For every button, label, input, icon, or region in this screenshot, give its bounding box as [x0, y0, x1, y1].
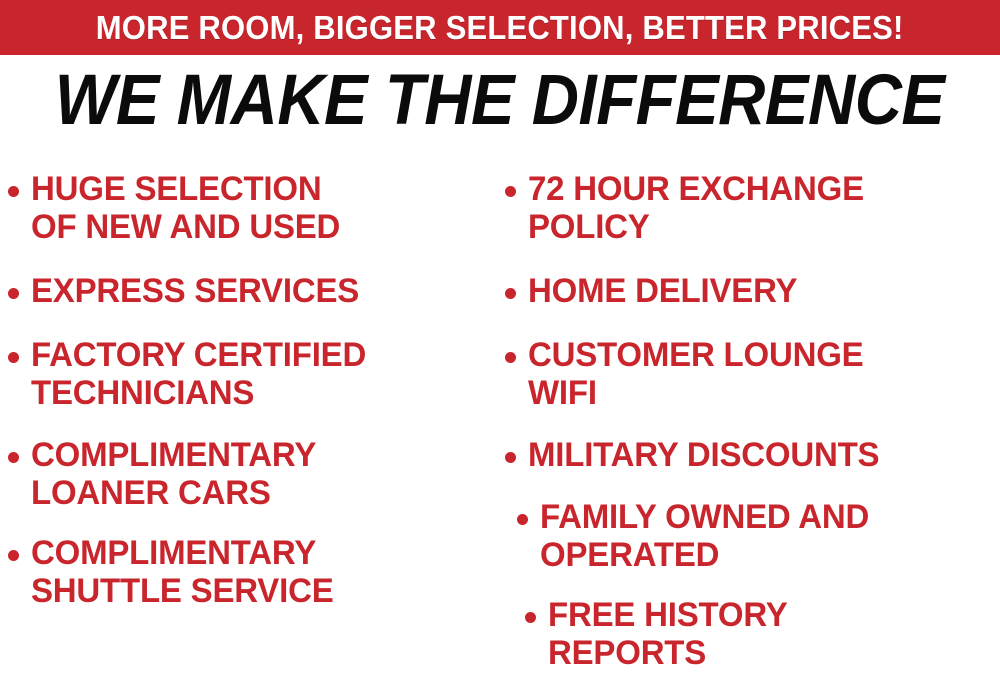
list-item: 72 HOUR EXCHANGE POLICY [505, 170, 1000, 246]
bullet-dot-icon [505, 186, 516, 197]
bullet-dot-icon [525, 612, 536, 623]
list-item-label: HOME DELIVERY [528, 272, 797, 310]
bullet-dot-icon [8, 550, 19, 561]
list-item-label: FAMILY OWNED AND OPERATED [540, 498, 869, 574]
promo-banner-text: MORE ROOM, BIGGER SELECTION, BETTER PRIC… [96, 11, 904, 44]
headline-container: WE MAKE THE DIFFERENCE [0, 60, 1000, 140]
list-item: MILITARY DISCOUNTS [505, 436, 1000, 474]
bullet-dot-icon [8, 452, 19, 463]
bullet-dot-icon [517, 514, 528, 525]
benefits-column-right: 72 HOUR EXCHANGE POLICY HOME DELIVERY CU… [505, 150, 1000, 694]
list-item-label: EXPRESS SERVICES [31, 272, 359, 310]
bullet-dot-icon [505, 452, 516, 463]
list-item-label: FREE HISTORY REPORTS [548, 596, 788, 672]
page-title: WE MAKE THE DIFFERENCE [55, 65, 945, 136]
list-item: FAMILY OWNED AND OPERATED [505, 498, 1000, 574]
benefits-column-left: HUGE SELECTION OF NEW AND USED EXPRESS S… [8, 150, 500, 694]
list-item-label: CUSTOMER LOUNGE WIFI [528, 336, 863, 412]
list-item: COMPLIMENTARY SHUTTLE SERVICE [8, 534, 500, 610]
list-item: FREE HISTORY REPORTS [505, 596, 1000, 672]
bullet-dot-icon [505, 288, 516, 299]
bullet-dot-icon [8, 186, 19, 197]
bullet-dot-icon [505, 352, 516, 363]
list-item-label: COMPLIMENTARY SHUTTLE SERVICE [31, 534, 334, 610]
list-item: FACTORY CERTIFIED TECHNICIANS [8, 336, 500, 412]
list-item-label: 72 HOUR EXCHANGE POLICY [528, 170, 864, 246]
list-item: HUGE SELECTION OF NEW AND USED [8, 170, 500, 246]
list-item: CUSTOMER LOUNGE WIFI [505, 336, 1000, 412]
bullet-dot-icon [8, 288, 19, 299]
list-item-label: COMPLIMENTARY LOANER CARS [31, 436, 316, 512]
benefits-columns: HUGE SELECTION OF NEW AND USED EXPRESS S… [0, 150, 1000, 694]
list-item-label: FACTORY CERTIFIED TECHNICIANS [31, 336, 366, 412]
list-item-label: MILITARY DISCOUNTS [528, 436, 879, 474]
promo-banner: MORE ROOM, BIGGER SELECTION, BETTER PRIC… [0, 0, 1000, 55]
list-item-label: HUGE SELECTION OF NEW AND USED [31, 170, 340, 246]
bullet-dot-icon [8, 352, 19, 363]
list-item: HOME DELIVERY [505, 272, 1000, 310]
list-item: EXPRESS SERVICES [8, 272, 500, 310]
list-item: COMPLIMENTARY LOANER CARS [8, 436, 500, 512]
